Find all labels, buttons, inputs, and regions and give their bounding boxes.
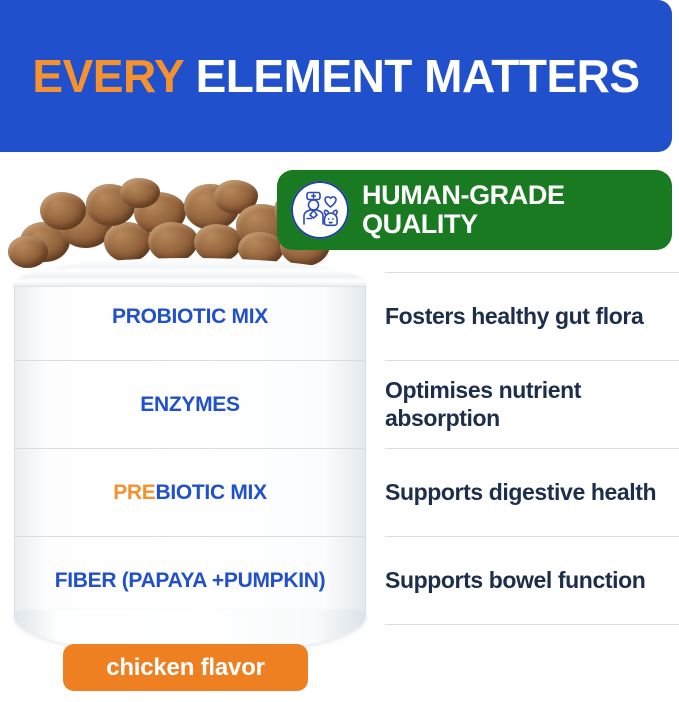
ingredient-name: PROBIOTIC MIX — [14, 272, 366, 360]
ingredient-name-text: BIOTIC MIX — [155, 481, 266, 504]
ingredient-table: PROBIOTIC MIX Fosters healthy gut flora … — [0, 272, 679, 638]
ingredient-benefit: Supports bowel function — [385, 536, 679, 624]
table-row: PROBIOTIC MIX Fosters healthy gut flora — [0, 272, 679, 360]
veterinarian-heart-dog-icon — [291, 181, 349, 239]
ingredient-name-text: ENZYMES — [140, 393, 239, 416]
ingredient-name: PREBIOTIC MIX — [14, 448, 366, 536]
ingredient-benefit: Optimises nutrient absorption — [385, 360, 679, 448]
human-grade-quality-badge: HUMAN-GRADE QUALITY — [277, 170, 672, 250]
ingredient-name: ENZYMES — [14, 360, 366, 448]
page-title: EVERY ELEMENT MATTERS — [18, 51, 653, 102]
ingredient-benefit: Supports digestive health — [385, 448, 679, 536]
header-banner: EVERY ELEMENT MATTERS — [0, 0, 672, 152]
table-bottom-divider — [385, 624, 679, 625]
ingredient-name-text: PROBIOTIC MIX — [112, 305, 268, 328]
flavor-tag: chicken flavor — [63, 644, 308, 691]
title-highlight: EVERY — [32, 50, 183, 102]
table-row: PREBIOTIC MIX Supports digestive health — [0, 448, 679, 536]
ingredient-name-prefix: PRE — [113, 481, 155, 504]
table-row: ENZYMES Optimises nutrient absorption — [0, 360, 679, 448]
ingredient-name: FIBER (PAPAYA +PUMPKIN) — [14, 536, 366, 624]
ingredient-name-text: FIBER (PAPAYA +PUMPKIN) — [55, 569, 326, 592]
quality-badge-label: HUMAN-GRADE QUALITY — [362, 181, 672, 239]
title-rest: ELEMENT MATTERS — [183, 50, 639, 102]
ingredient-benefit: Fosters healthy gut flora — [385, 272, 679, 360]
table-row: FIBER (PAPAYA +PUMPKIN) Supports bowel f… — [0, 536, 679, 624]
